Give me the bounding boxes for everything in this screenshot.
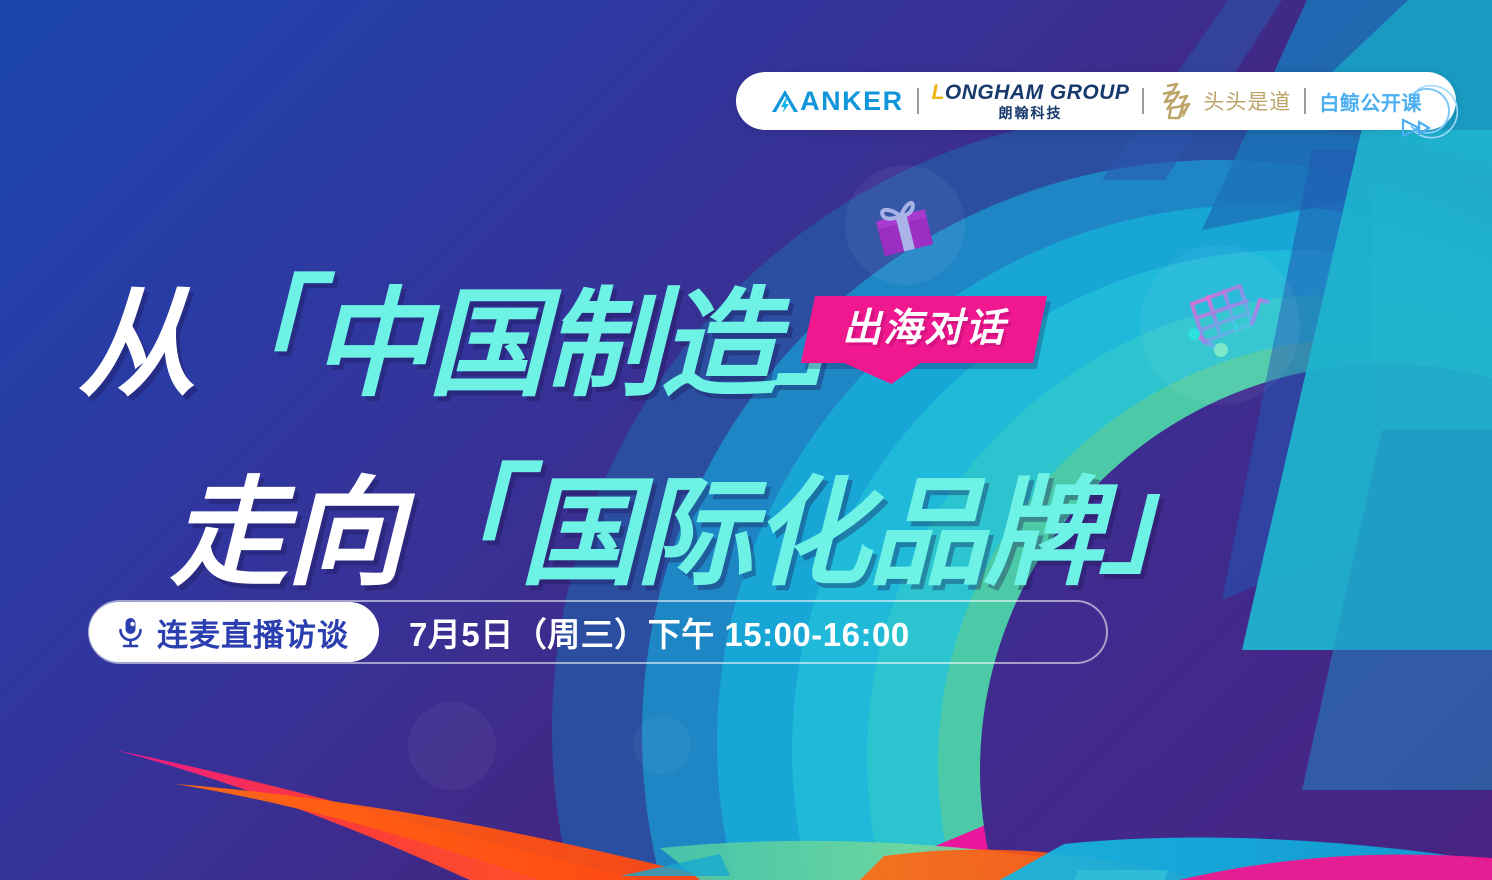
topic-badge-label: 出海对话 <box>842 309 1006 348</box>
ribbon-decorations <box>0 680 1492 880</box>
live-format-pill: 连麦直播访谈 <box>89 602 379 662</box>
event-datetime: 7月5日（周三）下午 15:00-16:00 <box>409 608 910 656</box>
logo-anker-text: ANKER <box>800 86 904 117</box>
headline-line1-bracket-open: 「 <box>194 236 312 407</box>
logo-toutoushidao[interactable]: 头头是道 <box>1144 80 1304 122</box>
headline-block: 从 「 中国制造 」 走向 「 国际化品牌 」 <box>78 236 1218 596</box>
partner-logo-bar: ANKER LONGHAM GROUP 朗翰科技 头头是道 <box>736 72 1456 130</box>
live-format-label: 连麦直播访谈 <box>157 610 349 655</box>
headline-line2-prefix: 走向 <box>170 473 402 596</box>
lightning-bolt-icon <box>770 86 800 116</box>
headline-line-2: 走向 「 国际化品牌 」 <box>170 425 1218 596</box>
event-info-bar: 连麦直播访谈 7月5日（周三）下午 15:00-16:00 <box>88 600 1108 664</box>
logo-toutoushidao-text: 头头是道 <box>1203 86 1291 116</box>
play-circle-icon <box>1397 84 1459 140</box>
gold-mark-icon <box>1157 80 1197 122</box>
logo-longham-en-rest: ONGHAM GROUP <box>945 81 1130 104</box>
logo-anker[interactable]: ANKER <box>757 86 917 117</box>
logo-longham-initial: L <box>932 81 945 104</box>
microphone-icon <box>115 615 146 649</box>
logo-baijing-open-class[interactable]: 白鲸公开课 <box>1306 87 1435 116</box>
logo-longham-group[interactable]: LONGHAM GROUP 朗翰科技 <box>919 82 1143 120</box>
headline-line2-highlight: 国际化品牌 <box>520 473 1100 596</box>
headline-line1-highlight: 中国制造 <box>312 284 776 407</box>
promo-banner: ANKER LONGHAM GROUP 朗翰科技 头头是道 <box>0 0 1492 880</box>
headline-line1-prefix: 从 <box>78 284 194 407</box>
headline-line2-bracket-close: 」 <box>1100 425 1218 596</box>
topic-badge: 出海对话 <box>808 296 1040 363</box>
headline-line2-bracket-open: 「 <box>402 425 520 596</box>
topic-badge-body: 出海对话 <box>801 296 1047 363</box>
headline-line-1: 从 「 中国制造 」 <box>78 236 1218 407</box>
logo-longham-cn: 朗翰科技 <box>999 106 1063 120</box>
logo-longham-en: LONGHAM GROUP <box>932 82 1130 103</box>
